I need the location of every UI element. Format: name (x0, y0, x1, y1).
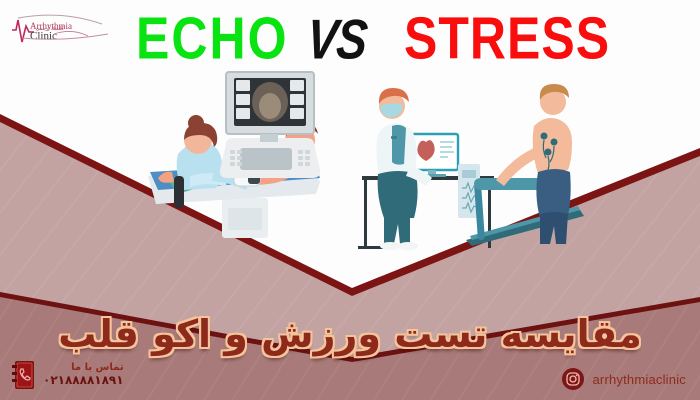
clinic-logo[interactable]: Arrhythmia Clinic کلینیک آریتمی (8, 8, 120, 48)
page-headline: مقایسه تست ورزش و اکو قلب (0, 312, 700, 356)
phone-book-icon (12, 360, 36, 390)
title-versus: VS (304, 6, 369, 72)
stress-test-illustration (348, 80, 598, 260)
contact-text-block: تماس با ما ۰۲۱۸۸۸۸۱۸۹۱ (43, 362, 124, 387)
instagram-handle[interactable]: arrhythmiaclinic (592, 372, 686, 387)
instagram-icon[interactable] (562, 368, 584, 390)
title-stress: STRESS (404, 4, 610, 72)
contact-block[interactable]: تماس با ما ۰۲۱۸۸۸۸۱۸۹۱ (12, 360, 124, 390)
echocardiography-illustration (138, 58, 348, 248)
svg-text:کلینیک آریتمی: کلینیک آریتمی (36, 25, 65, 32)
contact-phone-number: ۰۲۱۸۸۸۸۱۸۹۱ (43, 374, 124, 388)
instagram-block[interactable]: arrhythmiaclinic (562, 368, 686, 390)
poster-canvas: Arrhythmia Clinic کلینیک آریتمی ECHO VS … (0, 0, 700, 400)
title-echo: ECHO (136, 4, 288, 72)
